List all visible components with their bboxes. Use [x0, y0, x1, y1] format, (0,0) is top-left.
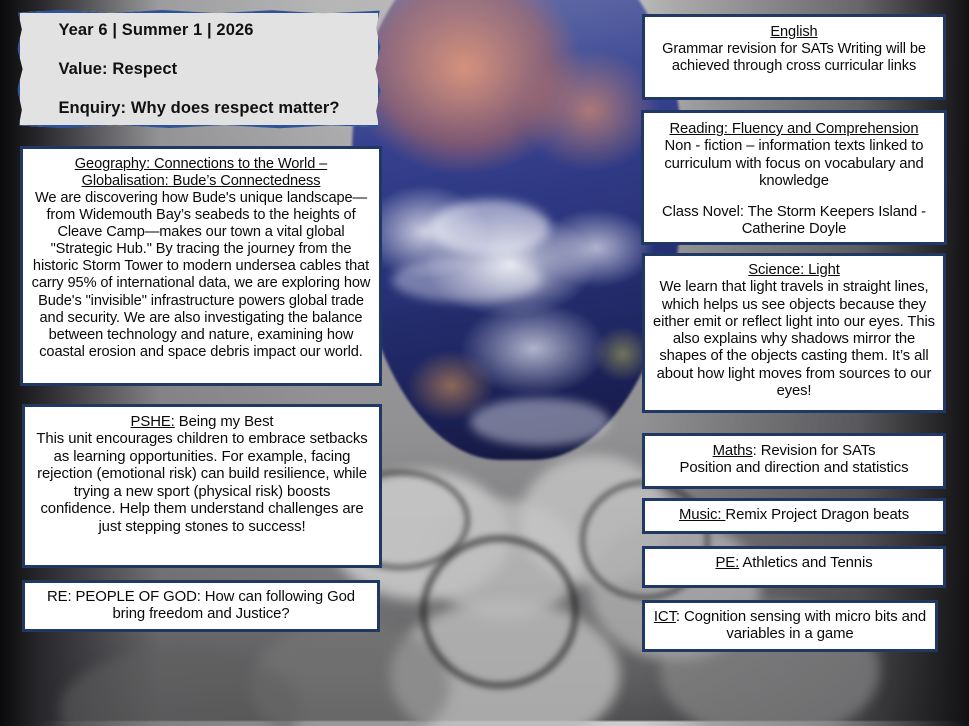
reading-class-novel: Class Novel: The Storm Keepers Island - …	[650, 204, 938, 239]
music-heading: Music:	[679, 507, 725, 523]
science-body: We learn that light travels in straight …	[652, 279, 936, 400]
geography-heading-line2: Globalisation: Bude’s Connectedness	[31, 173, 371, 190]
title-year-term-line: Year 6 | Summer 1 | 2026	[58, 19, 339, 41]
title-enquiry-line: Enquiry: Why does respect matter?	[58, 97, 339, 119]
title-banner-inner: Year 6 | Summer 1 | 2026 Value: Respect …	[16, 9, 382, 129]
music-heading-tail: Remix Project Dragon beats	[725, 507, 909, 523]
subject-box-pe: PE: Athletics and Tennis	[642, 546, 946, 588]
science-heading: Science: Light	[652, 262, 936, 279]
geography-body: We are discovering how Bude's unique lan…	[31, 190, 371, 361]
reading-spacer	[650, 190, 938, 203]
ict-heading: ICT	[654, 609, 676, 625]
pshe-heading: PSHE:	[131, 414, 175, 430]
subject-box-reading: Reading: Fluency and Comprehension Non -…	[641, 110, 947, 245]
title-value-line: Value: Respect	[58, 58, 339, 80]
reading-heading: Reading: Fluency and Comprehension	[650, 121, 938, 138]
cloud-swirl-icon	[470, 398, 610, 446]
subject-box-pshe: PSHE: Being my Best This unit encourages…	[22, 404, 382, 568]
pe-heading-row: PE: Athletics and Tennis	[653, 555, 935, 572]
maths-heading: Maths	[713, 443, 753, 459]
ict-heading-tail: : Cognition sensing with micro bits and …	[676, 609, 926, 642]
maths-heading-tail: : Revision for SATs	[753, 443, 876, 459]
geography-heading-line1: Geography: Connections to the World –	[31, 156, 371, 173]
subject-box-music: Music: Remix Project Dragon beats	[642, 498, 946, 534]
cloud-swirl-icon	[430, 200, 550, 256]
subject-box-ict: ICT: Cognition sensing with micro bits a…	[642, 600, 938, 652]
music-heading-row: Music: Remix Project Dragon beats	[653, 507, 935, 524]
english-body: Grammar revision for SATs Writing will b…	[653, 41, 935, 75]
re-body: RE: PEOPLE OF GOD: How can following God…	[35, 589, 367, 624]
curriculum-overview-slide: Year 6 | Summer 1 | 2026 Value: Respect …	[0, 0, 969, 726]
subject-box-re: RE: PEOPLE OF GOD: How can following God…	[22, 580, 380, 632]
ict-heading-row: ICT: Cognition sensing with micro bits a…	[653, 609, 927, 644]
subject-box-geography: Geography: Connections to the World – Gl…	[20, 146, 382, 386]
pe-heading-tail: Athletics and Tennis	[739, 555, 872, 571]
pshe-heading-row: PSHE: Being my Best	[35, 414, 369, 431]
pe-heading: PE:	[715, 555, 739, 571]
subject-box-english: English Grammar revision for SATs Writin…	[642, 14, 946, 100]
reading-body: Non - fiction – information texts linked…	[650, 138, 938, 190]
pshe-heading-tail: Being my Best	[175, 414, 274, 430]
english-heading: English	[653, 24, 935, 41]
maths-body: Position and direction and statistics	[653, 460, 935, 477]
cloud-swirl-icon	[392, 258, 542, 302]
subject-box-maths: Maths: Revision for SATs Position and di…	[642, 433, 946, 489]
title-banner: Year 6 | Summer 1 | 2026 Value: Respect …	[16, 9, 382, 129]
pshe-body: This unit encourages children to embrace…	[35, 431, 369, 536]
subject-box-science: Science: Light We learn that light trave…	[642, 253, 946, 413]
maths-heading-row: Maths: Revision for SATs	[653, 443, 935, 460]
